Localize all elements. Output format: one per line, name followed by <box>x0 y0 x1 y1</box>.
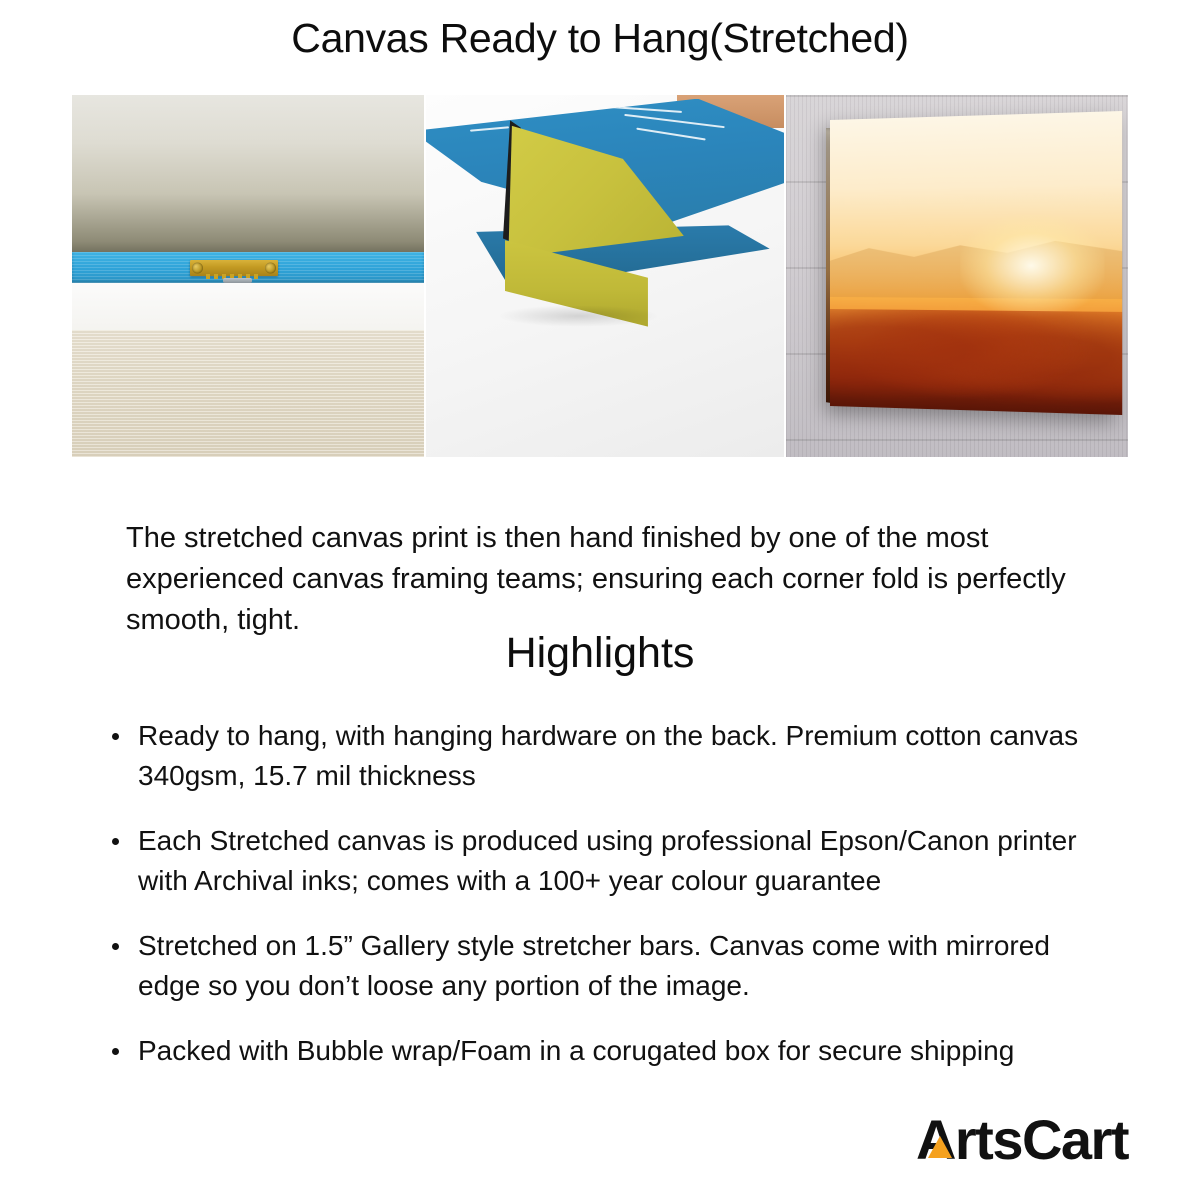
brand-wordmark: ArtsCart <box>916 1109 1128 1171</box>
list-item-text: Stretched on 1.5” Gallery style stretche… <box>138 930 1050 1001</box>
bullet-dot-icon <box>112 733 119 740</box>
hanger-screw-left-icon <box>192 263 203 274</box>
drop-shadow <box>498 305 659 327</box>
wave-line <box>625 114 725 128</box>
product-photo-strip <box>72 95 1128 457</box>
photo-panel-hung-canvas <box>786 95 1128 457</box>
page-title: Canvas Ready to Hang(Stretched) <box>0 14 1200 62</box>
wave-line <box>470 126 509 131</box>
intro-paragraph: The stretched canvas print is then hand … <box>126 518 1066 641</box>
bullet-dot-icon <box>112 943 119 950</box>
canvas-white-band <box>72 283 424 334</box>
bullet-dot-icon <box>112 838 119 845</box>
sawtooth-hanger-icon <box>190 260 278 277</box>
list-item: Stretched on 1.5” Gallery style stretche… <box>104 926 1114 1006</box>
cotton-canvas-texture <box>72 330 424 457</box>
list-item: Each Stretched canvas is produced using … <box>104 821 1114 901</box>
list-item-text: Ready to hang, with hanging hardware on … <box>138 720 1078 791</box>
list-item: Ready to hang, with hanging hardware on … <box>104 716 1114 796</box>
list-item-text: Each Stretched canvas is produced using … <box>138 825 1077 896</box>
list-item-text: Packed with Bubble wrap/Foam in a coruga… <box>138 1035 1014 1066</box>
bullet-dot-icon <box>112 1048 119 1055</box>
list-item: Packed with Bubble wrap/Foam in a coruga… <box>104 1031 1114 1071</box>
wave-line <box>636 128 705 141</box>
photo-panel-corner-fold <box>426 95 784 457</box>
brand-logo: ArtsCart <box>916 1108 1128 1172</box>
foliage-layer <box>830 309 1123 415</box>
canvas-back-surface <box>72 95 424 254</box>
hanger-screw-right-icon <box>265 263 276 274</box>
sunset-landscape-canvas <box>830 111 1123 415</box>
sun-glow <box>961 215 1105 318</box>
highlights-heading: Highlights <box>0 628 1200 678</box>
highlights-list: Ready to hang, with hanging hardware on … <box>104 716 1114 1071</box>
photo-panel-canvas-back-hanger <box>72 95 424 457</box>
